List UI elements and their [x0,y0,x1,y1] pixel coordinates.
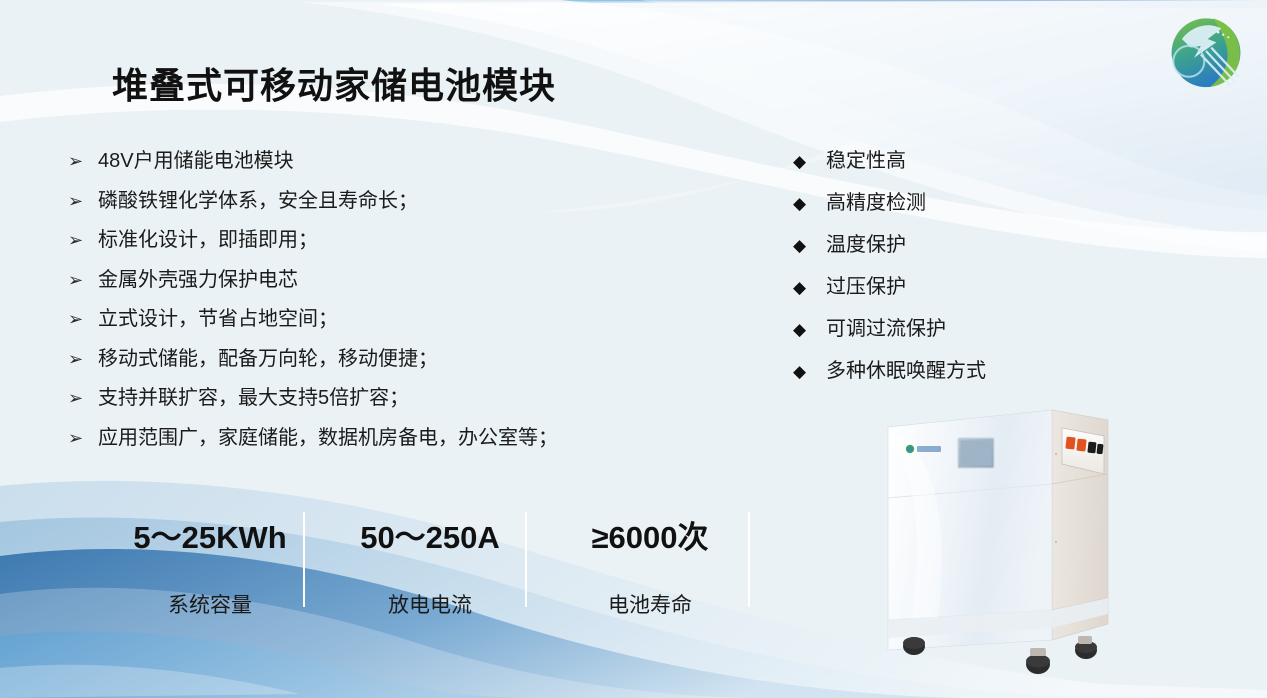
company-logo-icon [1163,8,1249,94]
list-item: ◆ 温度保护 [793,234,1133,256]
spec-value: 5〜25KWh [133,512,286,557]
arrow-bullet-icon: ➢ [68,429,98,447]
list-item: ◆ 高精度检测 [793,192,1133,214]
spec-value: 50〜250A [360,512,500,557]
spec-label: 放电电流 [388,589,472,619]
diamond-bullet-icon: ◆ [793,153,826,170]
list-item-label: 立式设计，节省占地空间； [98,308,728,330]
diamond-bullet-icon: ◆ [793,321,826,338]
product-image [880,392,1115,692]
arrow-bullet-icon: ➢ [68,389,98,407]
arrow-bullet-icon: ➢ [68,231,98,249]
spec-divider [748,512,750,607]
feature-list: ➢ 48V户用储能电池模块 ➢ 磷酸铁锂化学体系，安全且寿命长； ➢ 标准化设计… [68,150,728,466]
list-item-label: 应用范围广，家庭储能，数据机房备电，办公室等； [98,427,728,449]
diamond-bullet-icon: ◆ [793,195,826,212]
diamond-bullet-icon: ◆ [793,363,826,380]
spec-divider [303,512,305,607]
list-item: ➢ 应用范围广，家庭储能，数据机房备电，办公室等； [68,427,728,449]
arrow-bullet-icon: ➢ [68,152,98,170]
diamond-bullet-icon: ◆ [793,237,826,254]
list-item-label: 移动式储能，配备万向轮，移动便捷； [98,348,728,370]
list-item: ◆ 过压保护 [793,276,1133,298]
list-item-label: 高精度检测 [826,192,1133,214]
list-item: ➢ 磷酸铁锂化学体系，安全且寿命长； [68,190,728,212]
list-item: ➢ 立式设计，节省占地空间； [68,308,728,330]
list-item-label: 可调过流保护 [826,318,1133,340]
spec-strip: 5〜25KWh 系统容量 50〜250A 放电电流 ≥6000次 电池寿命 [100,512,760,612]
spec-cell-lifespan: ≥6000次 电池寿命 [540,512,760,612]
page-title: 堆叠式可移动家储电池模块 [112,57,556,109]
list-item: ➢ 标准化设计，即插即用； [68,229,728,251]
list-item-label: 过压保护 [826,276,1133,298]
list-item: ◆ 多种休眠唤醒方式 [793,360,1133,382]
spec-cell-capacity: 5〜25KWh 系统容量 [100,512,320,612]
arrow-bullet-icon: ➢ [68,310,98,328]
list-item-label: 磷酸铁锂化学体系，安全且寿命长； [98,190,728,212]
list-item-label: 48V户用储能电池模块 [98,150,728,172]
spec-divider [525,512,527,607]
list-item-label: 支持并联扩容，最大支持5倍扩容； [98,387,728,409]
list-item: ◆ 可调过流保护 [793,318,1133,340]
arrow-bullet-icon: ➢ [68,350,98,368]
list-item-label: 稳定性高 [826,150,1133,172]
arrow-bullet-icon: ➢ [68,271,98,289]
list-item: ➢ 移动式储能，配备万向轮，移动便捷； [68,348,728,370]
spec-value: ≥6000次 [592,512,709,557]
list-item: ➢ 金属外壳强力保护电芯 [68,269,728,291]
list-item-label: 金属外壳强力保护电芯 [98,269,728,291]
list-item: ◆ 稳定性高 [793,150,1133,172]
arrow-bullet-icon: ➢ [68,192,98,210]
spec-label: 系统容量 [168,589,252,619]
protection-list: ◆ 稳定性高 ◆ 高精度检测 ◆ 温度保护 ◆ 过压保护 ◆ 可调过流保护 ◆ … [793,150,1133,402]
spec-cell-current: 50〜250A 放电电流 [320,512,540,612]
slide-canvas: 堆叠式可移动家储电池模块 ➢ 48V户用储能电池模块 ➢ 磷酸铁锂化学体系，安全… [0,0,1267,698]
list-item-label: 标准化设计，即插即用； [98,229,728,251]
diamond-bullet-icon: ◆ [793,279,826,296]
list-item-label: 温度保护 [826,234,1133,256]
list-item-label: 多种休眠唤醒方式 [826,360,1133,382]
list-item: ➢ 支持并联扩容，最大支持5倍扩容； [68,387,728,409]
list-item: ➢ 48V户用储能电池模块 [68,150,728,172]
spec-label: 电池寿命 [608,589,692,619]
